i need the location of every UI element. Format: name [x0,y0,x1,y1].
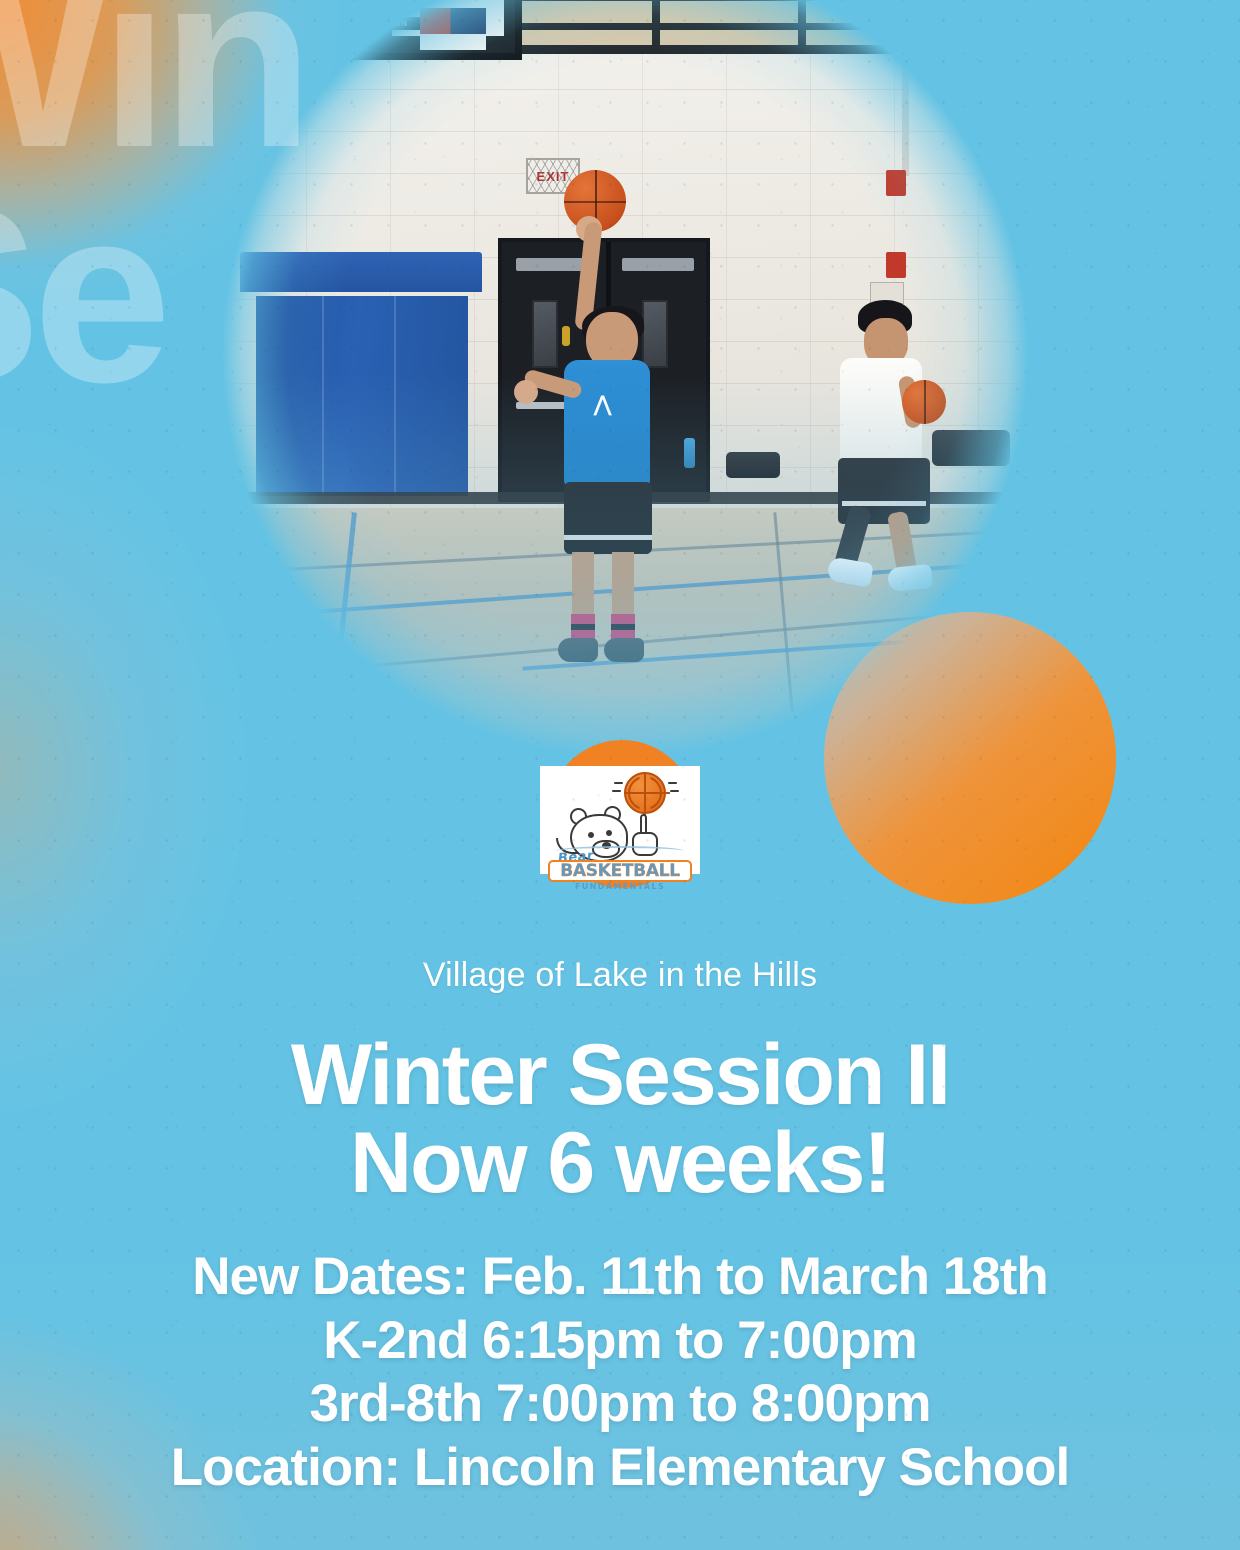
fire-alarm [886,252,906,278]
detail-location: Location: Lincoln Elementary School [0,1436,1240,1500]
railing-post [798,0,806,54]
fire-alarm [886,170,906,196]
banner-color-block [420,8,486,34]
bear-basketball-logo[interactable]: Bear BASKETBALL FUNDAMENTALS [540,740,700,920]
player-guide-hand [514,380,538,404]
player-walking [818,300,988,600]
logo-basketball-icon [624,772,666,814]
wall-pipe [902,60,909,176]
detail-38-time: 3rd-8th 7:00pm to 8:00pm [0,1372,1240,1436]
gym-bag [726,452,780,478]
player-shoe [604,638,644,662]
player-shooting: ⋀ [518,170,708,640]
wall-padding-top [240,252,482,292]
poster-copy: Village of Lake in the Hills Winter Sess… [0,955,1240,1500]
player-shoe [826,556,873,587]
railing-post [944,0,952,54]
logo-white-card: Bear BASKETBALL FUNDAMENTALS [540,766,700,874]
player-blue-shirt: ⋀ [564,360,650,488]
logo-main-wordmark: BASKETBALL [548,860,692,882]
bear-eye [588,832,594,838]
logo-sub-word: FUNDAMENTALS [540,882,700,891]
poster-canvas: Win Se ADVI Senior [0,0,1240,1550]
spin-motion-line [670,790,679,792]
session-details: New Dates: Feb. 11th to March 18th K-2nd… [0,1245,1240,1499]
player-shoe [558,638,598,662]
player-shorts [564,482,652,554]
spin-motion-line [614,782,623,784]
player-leg [612,552,634,620]
headline-line-2: Now 6 weeks! [0,1120,1240,1208]
bear-eye [606,830,612,836]
gym-photo: ADVI Senior Housing Geriatric Care Home … [222,0,1028,758]
headline: Winter Session II Now 6 weeks! [0,1032,1240,1207]
ball-seam [644,772,646,818]
gym-banner-secondary: ORS [420,0,486,50]
detail-dates: New Dates: Feb. 11th to March 18th [0,1245,1240,1309]
logo-artwork: Bear BASKETBALL FUNDAMENTALS [540,766,700,874]
headline-line-1: Winter Session II [0,1032,1240,1120]
logo-main-word-text: BASKETBALL [560,861,680,881]
banner-subline: AL CONSULTATION [324,19,408,28]
detail-k2-time: K-2nd 6:15pm to 7:00pm [0,1309,1240,1373]
gym-photo-illustration: ADVI Senior Housing Geriatric Care Home … [222,0,1028,758]
spin-motion-line [668,782,677,784]
spin-motion-line [612,790,621,792]
railing-post [652,0,660,54]
wall-padding [256,296,468,496]
shirt-logo-icon: ⋀ [594,394,618,416]
organization-name: Village of Lake in the Hills [0,955,1240,996]
player-leg [572,552,594,620]
player-shoe [887,564,933,592]
basketball [902,380,946,424]
